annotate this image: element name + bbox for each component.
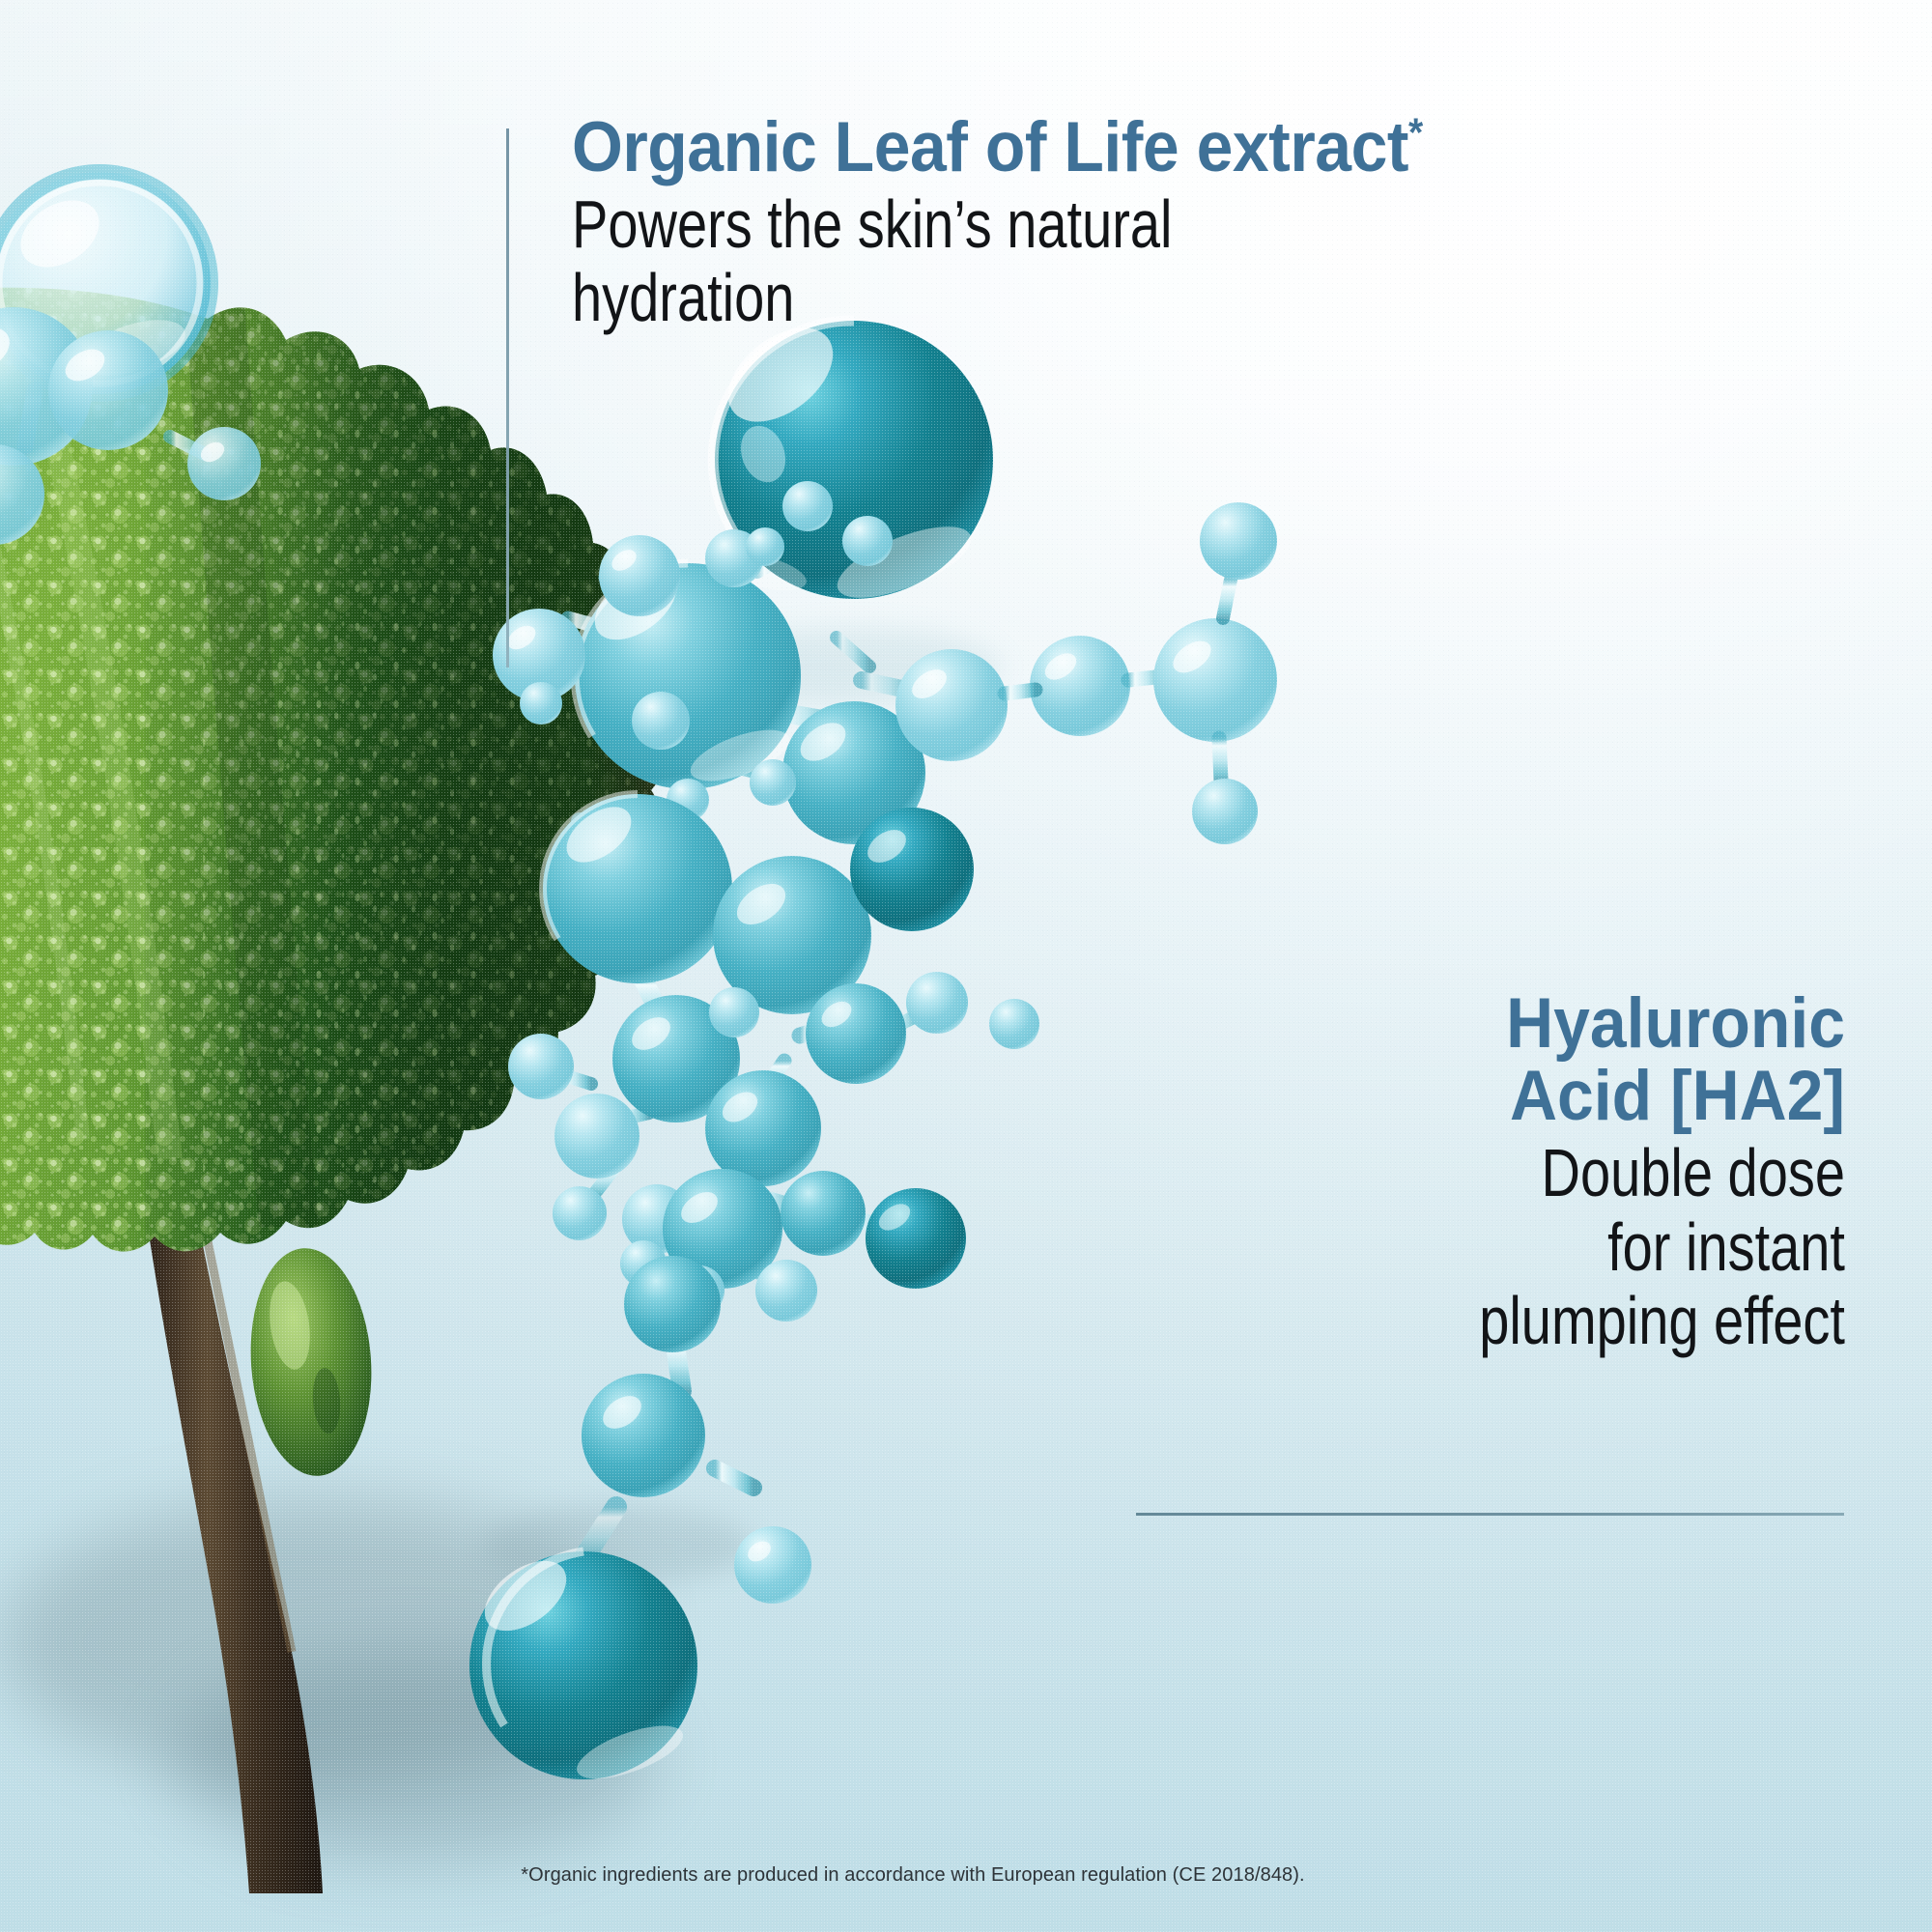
hyaluronic-acid-headline-line-1: Hyaluronic: [1028, 987, 1845, 1060]
hyaluronic-acid-headline: Hyaluronic Acid [HA2]: [1028, 987, 1845, 1132]
promo-banner: Organic Leaf of Life extract* Powers the…: [0, 0, 1932, 1932]
hyaluronic-acid-body-line-1: Double dose: [1142, 1136, 1845, 1209]
hyaluronic-acid-body-line-2: for instant: [1142, 1210, 1845, 1284]
right-horizontal-rule: [1136, 1513, 1844, 1516]
hyaluronic-acid-body-line-3: plumping effect: [1142, 1284, 1845, 1357]
leaf-of-life-body: Powers the skin’s natural hydration: [572, 188, 1569, 334]
legal-footnote: *Organic ingredients are produced in acc…: [0, 1864, 1932, 1887]
hyaluronic-acid-headline-line-2: Acid [HA2]: [1028, 1060, 1845, 1132]
leaf-of-life-body-line-1: Powers the skin’s natural: [572, 188, 1569, 262]
leaf-of-life-body-line-2: hydration: [572, 262, 1569, 335]
hyaluronic-acid-body: Double dose for instant plumping effect: [1142, 1136, 1845, 1357]
leaf-of-life-text-block: Organic Leaf of Life extract* Powers the…: [572, 112, 1818, 334]
headline-vertical-rule: [506, 128, 509, 668]
headline-asterisk: *: [1408, 110, 1423, 156]
leaf-of-life-headline: Organic Leaf of Life extract*: [572, 112, 1731, 183]
hyaluronic-acid-text-block: Hyaluronic Acid [HA2] Double dose for in…: [966, 987, 1845, 1357]
leaf-of-life-headline-text: Organic Leaf of Life extract: [572, 108, 1408, 186]
